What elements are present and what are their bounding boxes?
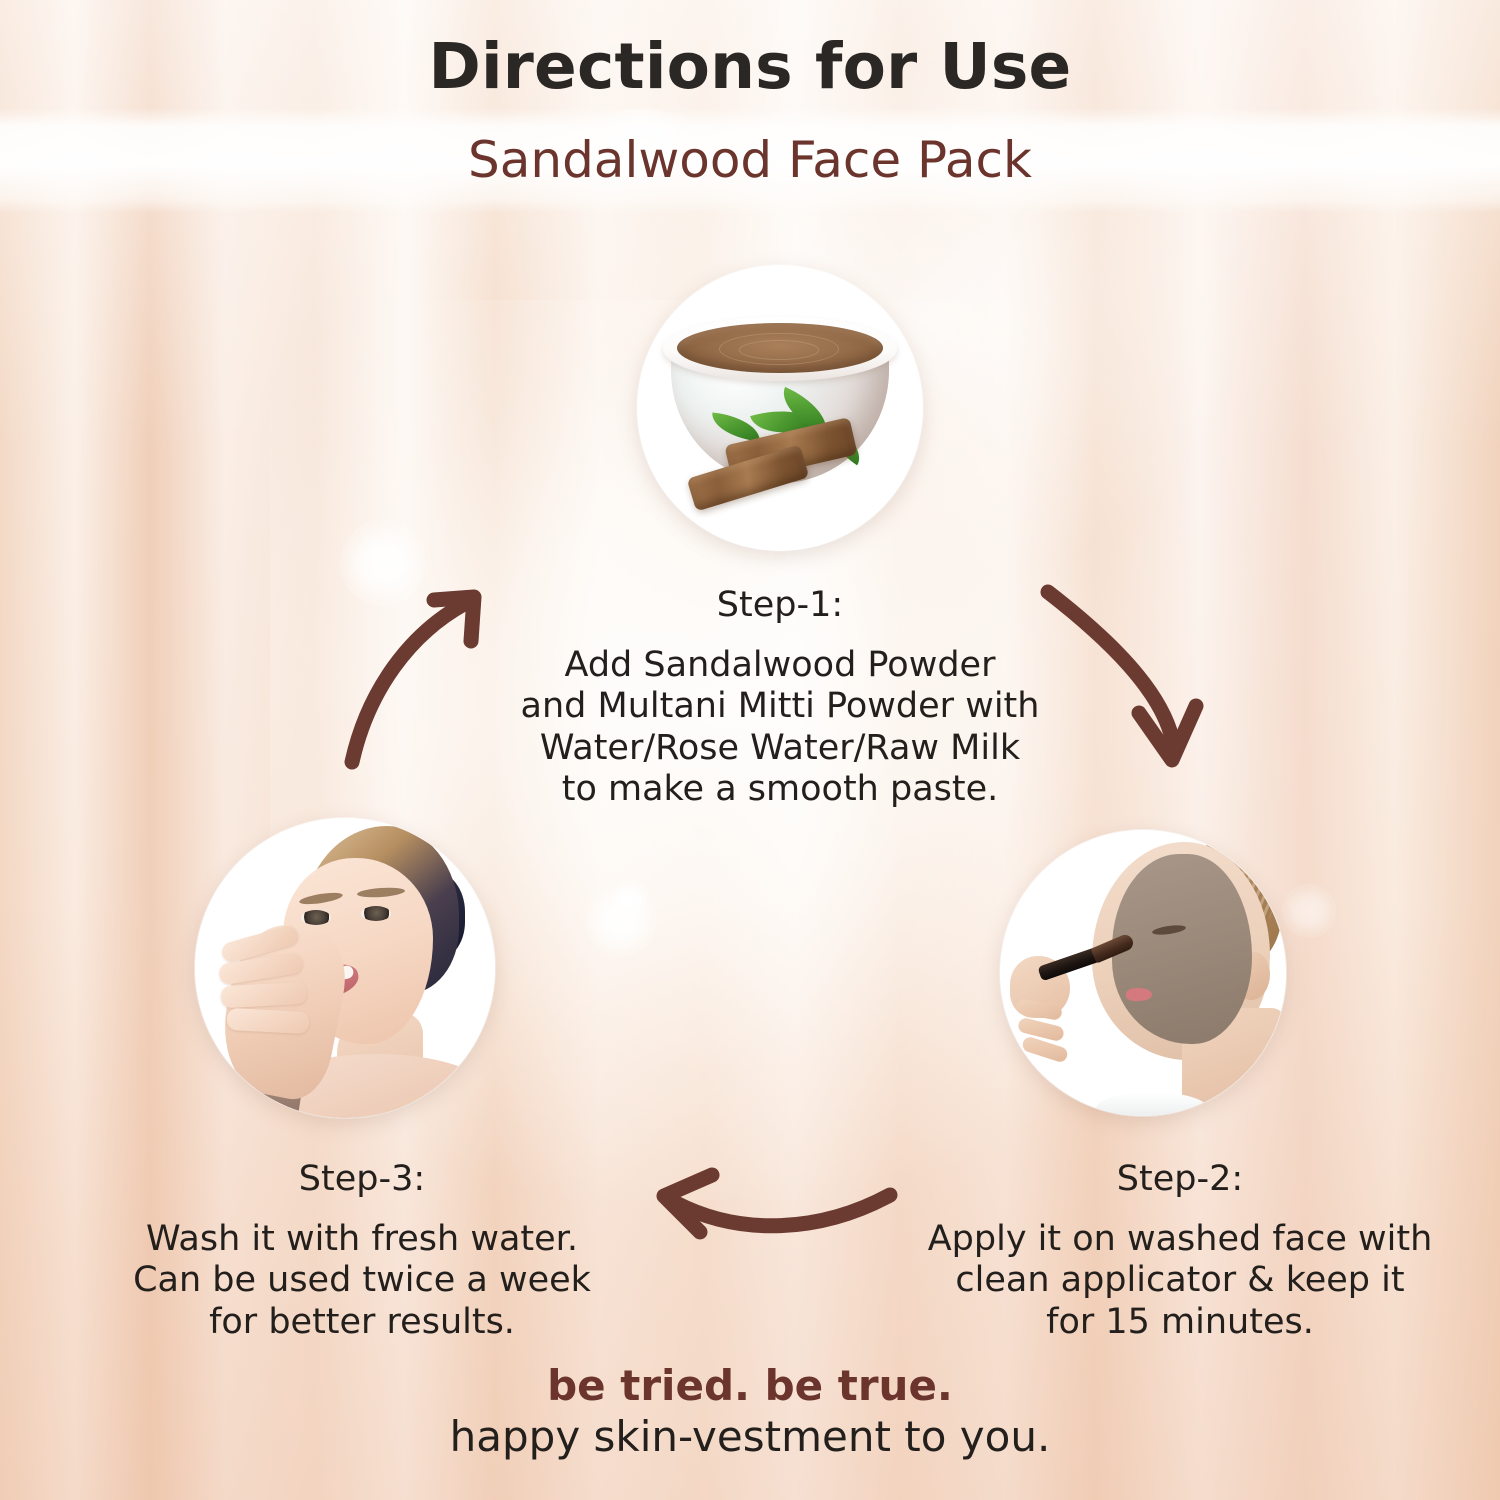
step-1-text: Add Sandalwood Powder and Multani Mitti … (470, 645, 1090, 810)
sandalwood-paste (677, 323, 883, 373)
step-1-caption: Step-1: Add Sandalwood Powder and Multan… (470, 566, 1090, 829)
lips (1126, 988, 1152, 1001)
step-2-text: Apply it on washed face with clean appli… (900, 1219, 1460, 1343)
finger (220, 982, 307, 1008)
step-3-caption: Step-3: Wash it with fresh water. Can be… (92, 1140, 632, 1362)
step-3-text: Wash it with fresh water. Can be used tw… (92, 1219, 632, 1343)
page-title: Directions for Use (0, 34, 1500, 101)
eye (301, 910, 331, 925)
product-subtitle: Sandalwood Face Pack (0, 133, 1500, 188)
tagline-line-2: happy skin-vestment to you. (0, 1411, 1500, 1462)
eye (361, 906, 391, 921)
step-2-label: Step-2: (900, 1159, 1460, 1200)
step-2-caption: Step-2: Apply it on washed face with cle… (900, 1140, 1460, 1362)
bokeh-orb (610, 880, 650, 920)
tagline-line-1: be tried. be true. (0, 1360, 1500, 1411)
step-3-image (195, 818, 495, 1118)
directions-for-use-infographic: Directions for Use Sandalwood Face Pack (0, 0, 1500, 1500)
step-2-image (1000, 830, 1286, 1116)
step-1-label: Step-1: (470, 585, 1090, 626)
step-3-label: Step-3: (92, 1159, 632, 1200)
bokeh-orb (1282, 884, 1336, 938)
finger (226, 1008, 309, 1034)
bokeh-orb (340, 520, 426, 606)
footer-tagline: be tried. be true. happy skin-vestment t… (0, 1360, 1500, 1462)
clay-mask-layer (1112, 854, 1252, 1044)
step-1-image (637, 265, 923, 551)
finger (1021, 1035, 1069, 1063)
